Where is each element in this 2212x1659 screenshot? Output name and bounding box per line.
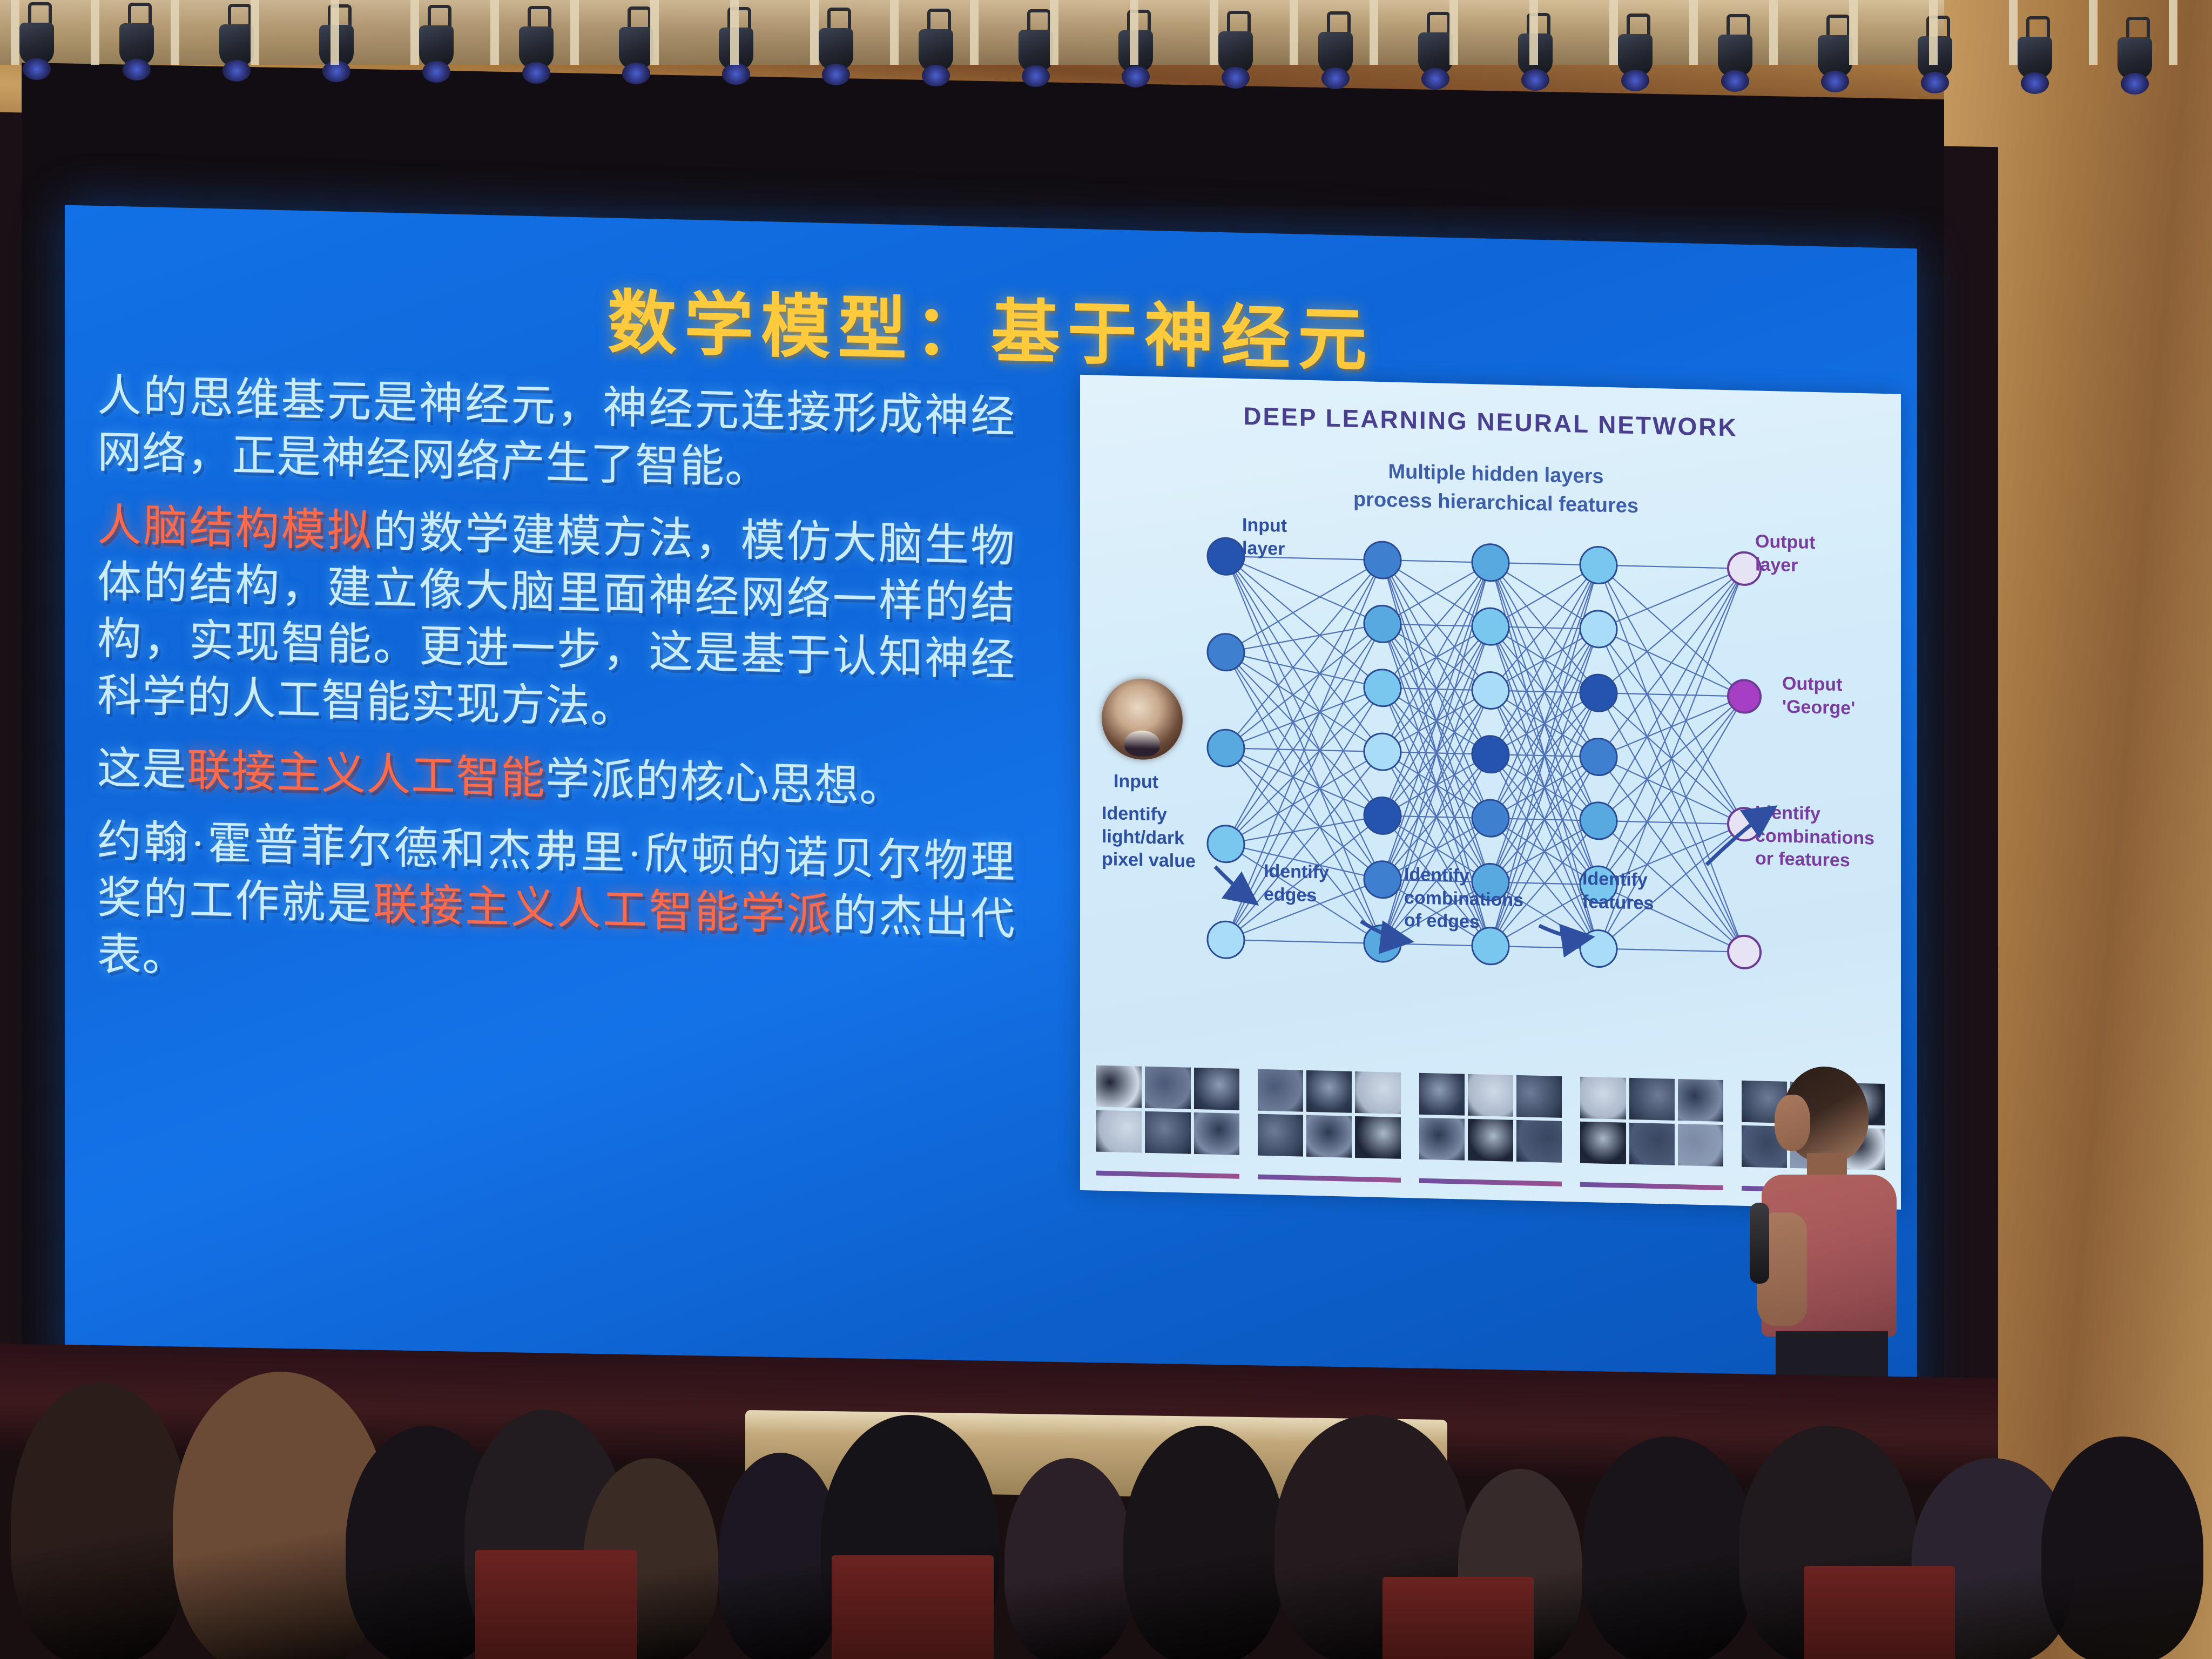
network-node [1364, 541, 1401, 579]
network-node [1208, 729, 1244, 767]
filmstrip-cell [1355, 1071, 1400, 1114]
slide-paragraph-4: 约翰·霍普菲尔德和杰弗里·欣顿的诺贝尔物理奖的工作就是联接主义人工智能学派的杰出… [97, 813, 1015, 1005]
highlighted-term: 人脑结构模拟 [97, 501, 373, 556]
label-identify-features: Identifyfeatures [1582, 867, 1654, 915]
audience-chair [1804, 1566, 1955, 1659]
filmstrip-group [1419, 1073, 1562, 1179]
network-node [1208, 537, 1244, 575]
label-input-layer: Inputlayer [1242, 514, 1287, 561]
rail-slat [1849, 0, 1858, 65]
audience-member [1123, 1426, 1285, 1659]
slide-paragraph-2: 人脑结构模拟的数学建模方法，模仿大脑生物体的结构，建立像大脑里面神经网络一样的结… [97, 497, 1015, 746]
filmstrip-cell [1096, 1110, 1142, 1153]
audience-member [2041, 1437, 2203, 1659]
rail-slat [970, 0, 979, 65]
network-node [1580, 674, 1617, 712]
body-text-run: 这是 [97, 744, 187, 795]
rail-slat [2169, 0, 2177, 65]
presenter-person [1743, 1067, 1921, 1401]
filmstrip-cell [1419, 1073, 1465, 1116]
filmstrip-cell [1516, 1075, 1562, 1118]
network-node [1472, 544, 1509, 582]
filmstrip-cell [1306, 1115, 1352, 1158]
stage-light-icon [1715, 14, 1756, 95]
network-node [1364, 861, 1401, 899]
body-text-run: 学派的核心思想。 [545, 754, 904, 812]
network-node [1364, 925, 1401, 962]
slide-paragraph-1: 人的思维基元是神经元，神经元连接形成神经网络，正是神经网络产生了智能。 [97, 368, 1015, 503]
rail-slat [1529, 0, 1538, 65]
network-node [1580, 610, 1617, 648]
network-node [1472, 672, 1509, 710]
rail-slat [2089, 0, 2098, 65]
filmstrip-underline [1419, 1178, 1562, 1186]
rail-slat [1210, 0, 1218, 65]
network-node [1208, 921, 1244, 959]
rail-slat [730, 0, 739, 65]
filmstrip-cell [1306, 1070, 1352, 1113]
filmstrip-cell [1194, 1112, 1239, 1155]
filmstrip-cell [1580, 1122, 1626, 1164]
audience-chair [475, 1550, 637, 1659]
rail-slat [1689, 0, 1698, 65]
filmstrip-cell [1145, 1067, 1190, 1109]
filmstrip-cell [1258, 1114, 1303, 1157]
stage-light-icon [1615, 14, 1656, 95]
network-node [1472, 736, 1509, 773]
filmstrip-cell [1629, 1123, 1675, 1165]
highlighted-term: 联接主义人工智能学派 [373, 880, 833, 940]
filmstrip-group [1258, 1069, 1401, 1175]
network-node [1580, 547, 1617, 584]
filmstrip-cell [1258, 1069, 1303, 1112]
stage-light-icon [1315, 11, 1356, 92]
audience-member [1004, 1458, 1134, 1659]
rail-slat [1609, 0, 1618, 65]
rail-slat [890, 0, 899, 65]
label-output-george: Output'George' [1782, 672, 1855, 720]
filmstrip-cell [1516, 1120, 1562, 1163]
audience-chair [832, 1555, 994, 1659]
rail-slat [1050, 0, 1058, 65]
rail-slat [650, 0, 659, 65]
filmstrip-cell [1580, 1077, 1626, 1120]
filmstrip-group [1580, 1077, 1723, 1183]
network-node [1364, 733, 1401, 771]
stage-light-icon [2014, 16, 2055, 97]
rail-slat [1449, 0, 1458, 65]
audience-member [1582, 1437, 1755, 1659]
stage-light-icon [416, 5, 457, 86]
label-output-layer: Outputlayer [1755, 530, 1815, 577]
filmstrip-cell [1145, 1111, 1190, 1154]
network-node [1580, 738, 1617, 776]
label-identify-combinations-of-edges: Identifycombinationsof edges [1404, 863, 1523, 935]
network-node [1728, 680, 1761, 713]
filmstrip-underline [1258, 1175, 1401, 1183]
network-node [1364, 605, 1401, 643]
filmstrip-cell [1419, 1118, 1465, 1161]
network-node [1364, 797, 1401, 835]
rail-slat [570, 0, 579, 65]
presenter-face [1775, 1095, 1810, 1151]
filmstrip-cell [1194, 1068, 1239, 1110]
filmstrip-group [1096, 1065, 1239, 1171]
filmstrip-cell [1629, 1078, 1675, 1121]
slide-body-text: 人的思维基元是神经元，神经元连接形成神经网络，正是神经网络产生了智能。 人脑结构… [97, 368, 1015, 1021]
rail-slat [11, 0, 19, 65]
network-node [1580, 802, 1617, 840]
photo-scene: 数学模型：基于神经元 人的思维基元是神经元，神经元连接形成神经网络，正是神经网络… [0, 0, 2212, 1659]
rail-slat [91, 0, 99, 65]
rail-slat [810, 0, 819, 65]
stage-light-icon [1215, 11, 1256, 92]
rail-slat [1130, 0, 1138, 65]
filmstrip-cell [1355, 1116, 1400, 1159]
microphone-icon [1750, 1203, 1769, 1284]
rail-slat [1929, 0, 1938, 65]
label-input: Input [1114, 770, 1158, 793]
rail-slat [331, 0, 339, 65]
stage-light-icon [116, 3, 157, 84]
network-node [1208, 825, 1244, 863]
rail-slat [171, 0, 179, 65]
network-node [1472, 608, 1509, 645]
label-identify-pixel: Identifylight/darkpixel value [1102, 802, 1196, 873]
filmstrip-cell [1678, 1079, 1723, 1122]
body-text-run: 人的思维基元是神经元，神经元连接形成神经网络，正是神经网络产生了智能。 [97, 371, 1015, 493]
network-node [1208, 633, 1244, 671]
network-node [1728, 935, 1761, 968]
network-node [1472, 799, 1509, 837]
stage-light-icon [915, 9, 956, 90]
rail-slat [490, 0, 499, 65]
rail-slat [410, 0, 419, 65]
network-node [1364, 669, 1401, 707]
filmstrip-cell [1678, 1124, 1723, 1166]
stage-light-icon [2114, 17, 2155, 98]
stage-light-icon [16, 2, 57, 83]
stage-light-icon [815, 8, 857, 89]
audience-member [11, 1382, 189, 1659]
filmstrip-cell [1096, 1065, 1142, 1108]
filmstrip-cell [1468, 1074, 1513, 1117]
rail-slat [1370, 0, 1378, 65]
stage-light-icon [516, 6, 557, 87]
filmstrip-cell [1468, 1119, 1513, 1162]
filmstrip-underline [1580, 1182, 1723, 1190]
slide-paragraph-3: 这是联接主义人工智能学派的核心思想。 [97, 740, 1015, 819]
highlighted-term: 联接主义人工智能 [187, 746, 545, 804]
audience-chair [1382, 1577, 1534, 1659]
rail-slat [1769, 0, 1778, 65]
network-node [1580, 930, 1617, 968]
filmstrip-underline [1096, 1171, 1239, 1179]
label-identify-edges: Identifyedges [1264, 860, 1329, 907]
label-identify-combinations-or-features: Identifycombinationsor features [1755, 801, 1874, 873]
rail-slat [2009, 0, 2018, 65]
rail-slat [1290, 0, 1298, 65]
rail-slat [251, 0, 259, 65]
presentation-slide: 数学模型：基于神经元 人的思维基元是神经元，神经元连接形成神经网络，正是神经网络… [65, 205, 1917, 1415]
